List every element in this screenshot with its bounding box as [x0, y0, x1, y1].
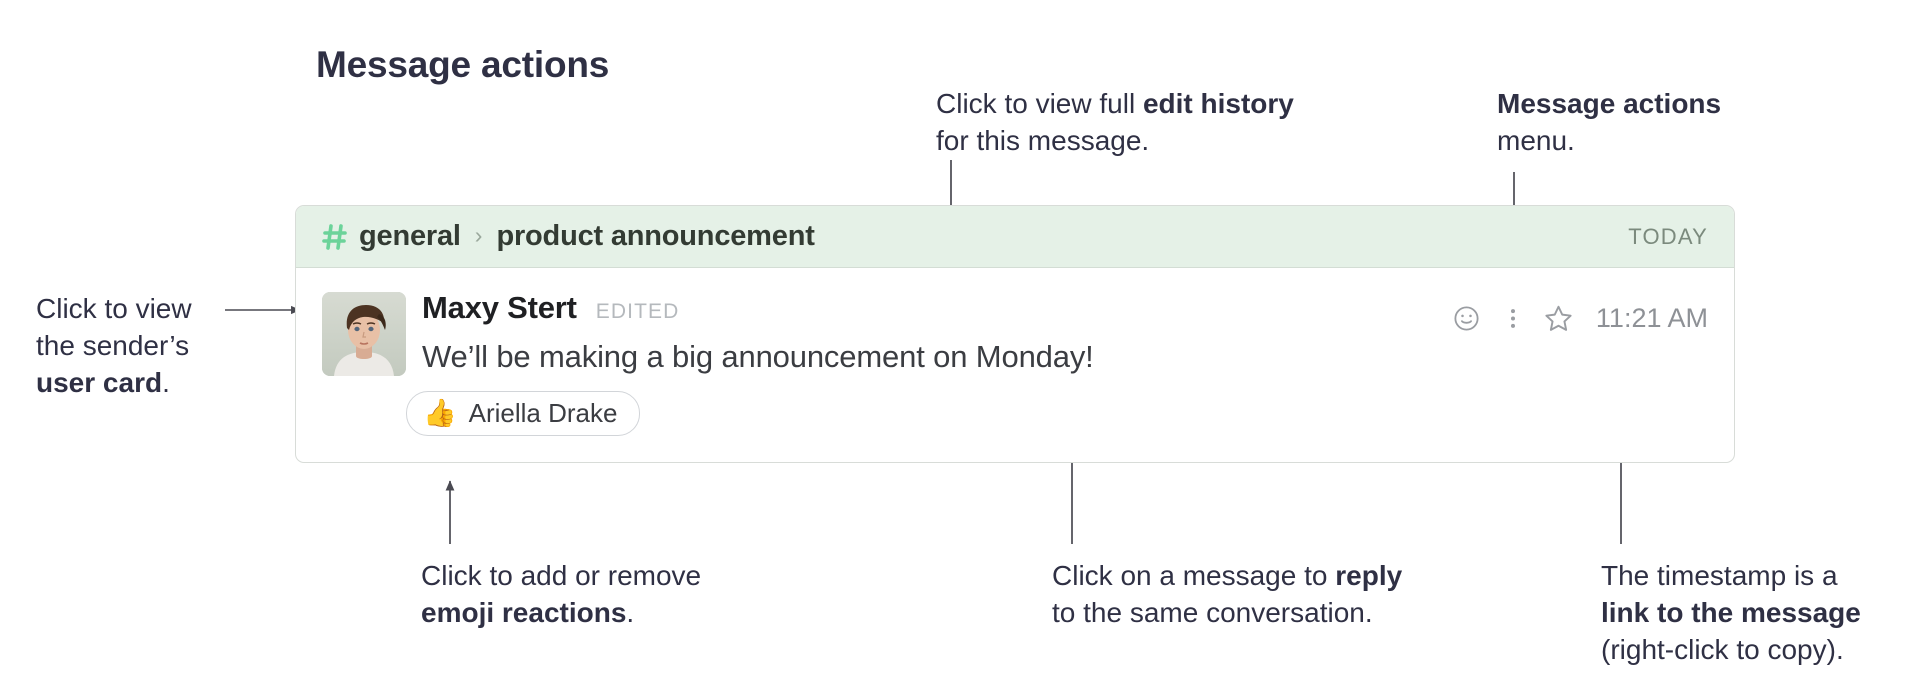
message-actions-cluster: 11:21 AM: [1444, 298, 1708, 338]
emoji-reaction-icon[interactable]: [1444, 298, 1490, 338]
annotation-edit-history-bold: edit history: [1143, 88, 1294, 119]
avatar-image: [322, 292, 406, 376]
annotation-edit-history-line2: for this message.: [936, 123, 1294, 160]
avatar[interactable]: [322, 292, 406, 376]
annotation-emoji-bold: emoji reactions: [421, 597, 626, 628]
annotation-timestamp-bold: link to the message: [1601, 597, 1861, 628]
message-actions-menu-icon[interactable]: [1490, 298, 1536, 338]
annotation-edit-history-text: Click to view full: [936, 88, 1143, 119]
breadcrumb-topic-name[interactable]: product announcement: [496, 220, 814, 253]
card-header-breadcrumb: general › product announcement TODAY: [296, 206, 1734, 268]
thumbs-up-icon: 👍: [423, 400, 457, 427]
annotation-user-card-line2: the sender’s: [36, 328, 192, 365]
star-icon[interactable]: [1536, 298, 1582, 338]
emoji-reaction-pill[interactable]: 👍 Ariella Drake: [406, 391, 640, 436]
message-body-text[interactable]: We’ll be making a big announcement on Mo…: [422, 339, 1708, 375]
annotation-reply-bold: reply: [1335, 560, 1402, 591]
annotation-reply-text: Click on a message to: [1052, 560, 1335, 591]
reaction-row: 👍 Ariella Drake: [406, 391, 1708, 436]
breadcrumb-stream-name[interactable]: general: [359, 220, 461, 253]
page-title: Message actions: [316, 44, 609, 86]
annotation-reply-line2: to the same conversation.: [1052, 595, 1402, 632]
message-row[interactable]: Maxy Stert EDITED We’ll be making a big …: [296, 268, 1734, 462]
star-outline-icon: [1543, 303, 1574, 334]
chevron-right-icon: ›: [475, 224, 483, 247]
message-timestamp-link[interactable]: 11:21 AM: [1596, 303, 1708, 334]
annotation-user-card: Click to view the sender’s user card.: [36, 291, 192, 402]
annotation-timestamp: The timestamp is a link to the message (…: [1601, 558, 1861, 669]
annotation-edit-history: Click to view full edit history for this…: [936, 86, 1294, 160]
date-label: TODAY: [1628, 224, 1708, 250]
annotation-timestamp-line3: (right-click to copy).: [1601, 632, 1861, 669]
annotation-actions-menu: Message actions menu.: [1497, 86, 1721, 160]
sender-name[interactable]: Maxy Stert: [422, 290, 577, 326]
annotation-user-card-line1: Click to view: [36, 291, 192, 328]
smiley-face-icon: [1452, 304, 1481, 333]
reaction-label: Ariella Drake: [469, 398, 618, 429]
hash-icon: [322, 222, 348, 252]
message-card: general › product announcement TODAY: [295, 205, 1735, 463]
annotation-timestamp-line1: The timestamp is a: [1601, 558, 1861, 595]
annotation-user-card-bold: user card: [36, 367, 162, 398]
annotation-emoji-period: .: [626, 597, 634, 628]
annotation-emoji-line1: Click to add or remove: [421, 558, 701, 595]
annotation-actions-menu-line2: menu.: [1497, 123, 1721, 160]
annotation-reply: Click on a message to reply to the same …: [1052, 558, 1402, 632]
annotation-actions-menu-bold: Message actions: [1497, 88, 1721, 119]
edited-badge[interactable]: EDITED: [596, 300, 680, 324]
annotation-emoji-reactions: Click to add or remove emoji reactions.: [421, 558, 701, 632]
vertical-dots-icon: [1500, 304, 1526, 333]
annotation-user-card-period: .: [162, 367, 170, 398]
